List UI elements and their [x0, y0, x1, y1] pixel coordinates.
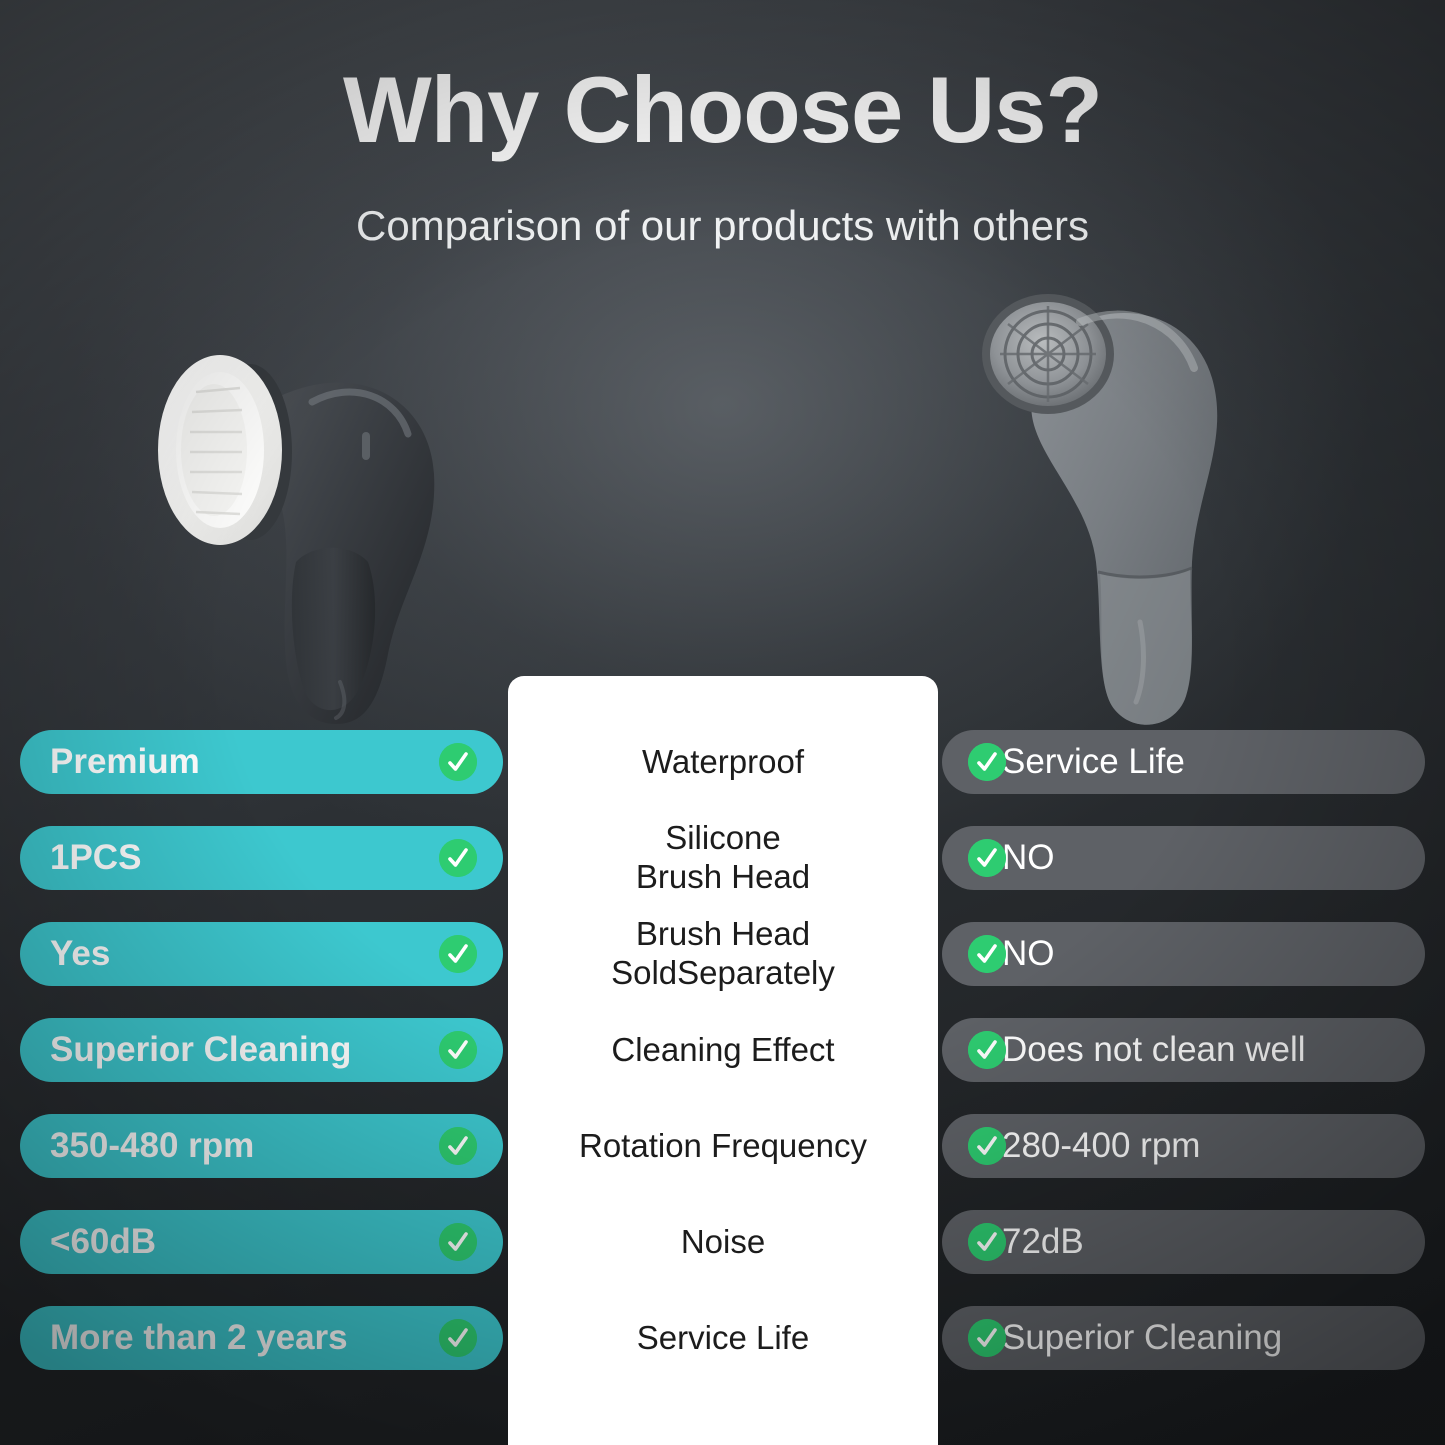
our-value-text: Superior Cleaning [50, 1030, 351, 1070]
feature-label-text: Cleaning Effect [611, 1031, 834, 1070]
feature-label: Rotation Frequency [508, 1114, 938, 1178]
check-icon [439, 935, 477, 973]
page-title: Why Choose Us? [0, 62, 1445, 158]
check-icon [968, 1031, 1006, 1069]
check-icon [968, 839, 1006, 877]
their-value-text: Superior Cleaning [1002, 1318, 1282, 1358]
check-icon [439, 1127, 477, 1165]
our-value-text: Yes [50, 934, 110, 974]
their-value-text: 72dB [1002, 1222, 1084, 1262]
our-value-pill: <60dB [20, 1210, 503, 1274]
our-value-text: 1PCS [50, 838, 141, 878]
our-value-text: Premium [50, 742, 200, 782]
their-value-text: NO [1002, 934, 1055, 974]
our-value-text: More than 2 years [50, 1318, 348, 1358]
feature-label: Brush HeadSoldSeparately [508, 922, 938, 986]
check-icon [439, 743, 477, 781]
our-value-pill: Premium [20, 730, 503, 794]
feature-label-text: Service Life [637, 1319, 809, 1358]
their-value-text: Does not clean well [1002, 1030, 1306, 1070]
check-icon [968, 743, 1006, 781]
their-value-pill: Superior Cleaning [942, 1306, 1425, 1370]
their-value-pill: 280-400 rpm [942, 1114, 1425, 1178]
competitor-product-image [960, 262, 1360, 752]
feature-label-text: Brush HeadSoldSeparately [611, 915, 835, 992]
check-icon [968, 1127, 1006, 1165]
their-value-pill: Service Life [942, 730, 1425, 794]
their-value-pill: 72dB [942, 1210, 1425, 1274]
feature-label: Service Life [508, 1306, 938, 1370]
feature-label-text: Noise [681, 1223, 765, 1262]
feature-label: Cleaning Effect [508, 1018, 938, 1082]
feature-label-text: SiliconeBrush Head [636, 819, 810, 896]
their-value-text: Service Life [1002, 742, 1185, 782]
feature-label: SiliconeBrush Head [508, 826, 938, 890]
their-value-pill: NO [942, 922, 1425, 986]
check-icon [439, 1223, 477, 1261]
feature-label: Waterproof [508, 730, 938, 794]
comparison-infographic: Why Choose Us? Comparison of our product… [0, 0, 1445, 1445]
feature-label: Noise [508, 1210, 938, 1274]
our-value-pill: 1PCS [20, 826, 503, 890]
our-value-text: 350-480 rpm [50, 1126, 254, 1166]
feature-label-text: Rotation Frequency [579, 1127, 867, 1166]
check-icon [439, 1031, 477, 1069]
feature-labels: Waterproof SiliconeBrush Head Brush Head… [508, 730, 938, 1370]
our-value-pill: Superior Cleaning [20, 1018, 503, 1082]
their-value-text: 280-400 rpm [1002, 1126, 1200, 1166]
their-value-pill: NO [942, 826, 1425, 890]
our-value-pill: More than 2 years [20, 1306, 503, 1370]
check-icon [439, 1319, 477, 1357]
check-icon [968, 1223, 1006, 1261]
check-icon [968, 1319, 1006, 1357]
our-value-pill: Yes [20, 922, 503, 986]
feature-label-text: Waterproof [642, 743, 804, 782]
our-product-image [100, 262, 520, 732]
their-value-pill: Does not clean well [942, 1018, 1425, 1082]
check-icon [968, 935, 1006, 973]
page-subtitle: Comparison of our products with others [0, 202, 1445, 250]
their-value-text: NO [1002, 838, 1055, 878]
our-value-pill: 350-480 rpm [20, 1114, 503, 1178]
check-icon [439, 839, 477, 877]
our-value-text: <60dB [50, 1222, 156, 1262]
